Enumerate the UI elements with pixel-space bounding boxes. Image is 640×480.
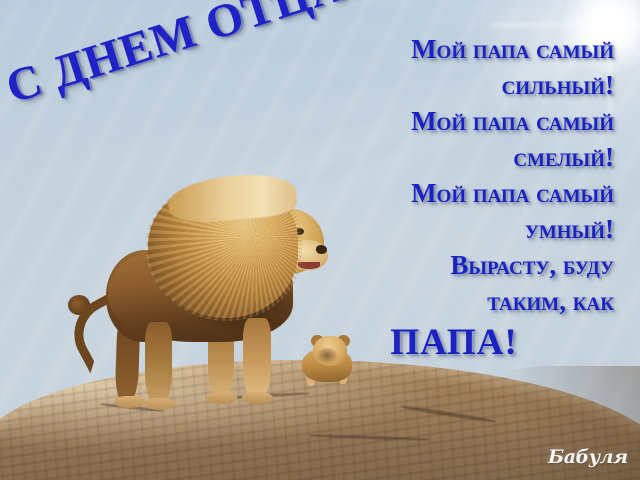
lion-paw	[144, 398, 175, 410]
verse-line: смелый!	[352, 144, 614, 171]
verse-line: Мой папа самый	[352, 108, 614, 135]
lion-mouth	[298, 262, 320, 269]
lion-leg	[145, 322, 172, 404]
verse-line: Мой папа самый	[352, 180, 614, 207]
greeting-card: С ДНЕМ ОТЦА! Мой папа самый сильный! Мой…	[0, 0, 640, 480]
cub-face-shadow	[316, 348, 338, 364]
verse-block: Мой папа самый сильный! Мой папа самый с…	[352, 36, 614, 370]
signature: Бабуля	[548, 446, 628, 468]
verse-line: Вырасту, буду	[352, 252, 614, 279]
verse-line-emphasis: ПАПА!	[352, 324, 614, 361]
verse-line: сильный!	[352, 72, 614, 99]
lion-leg	[243, 318, 271, 398]
lion-paw	[242, 392, 273, 404]
verse-line: таким, как	[352, 288, 614, 315]
verse-line: Мой папа самый	[352, 36, 614, 63]
lion-paw	[206, 392, 237, 404]
lion-paw	[114, 396, 145, 408]
lion-nose	[316, 245, 327, 254]
verse-line: умный!	[352, 216, 614, 243]
